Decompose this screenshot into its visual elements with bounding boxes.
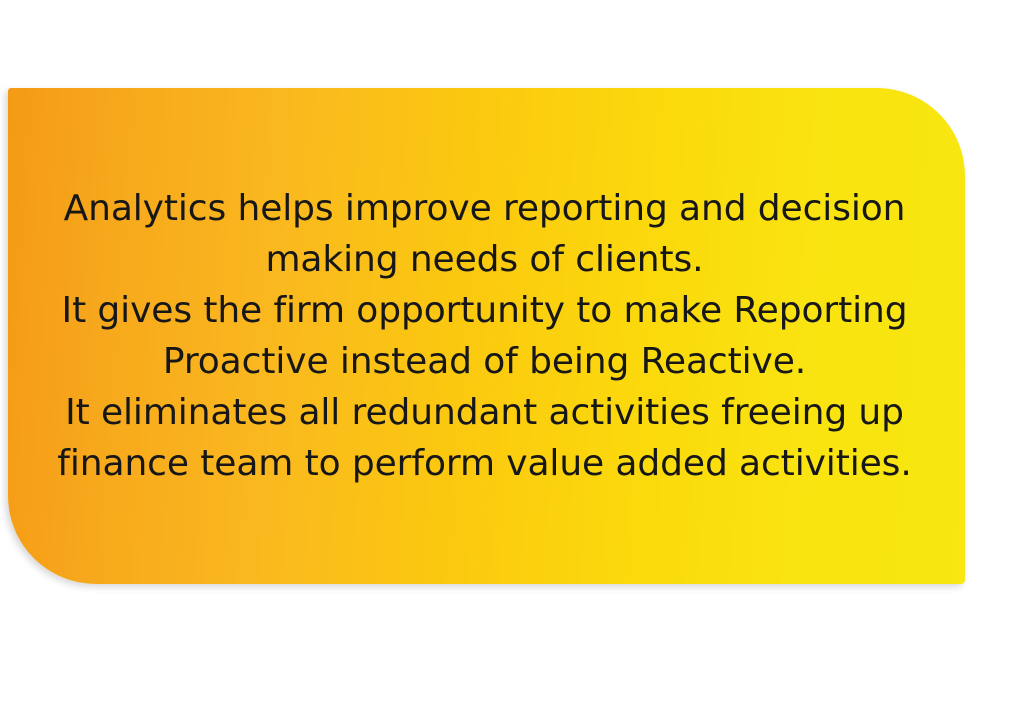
callout-line-5: It eliminates all redundant activities f…: [32, 387, 937, 438]
analytics-benefits-callout-card: Analytics helps improve reporting and de…: [8, 88, 965, 584]
callout-line-6: finance team to perform value added acti…: [32, 438, 937, 489]
callout-line-4: Proactive instead of being Reactive.: [32, 336, 937, 387]
callout-line-1: Analytics helps improve reporting and de…: [32, 183, 937, 234]
callout-line-3: It gives the firm opportunity to make Re…: [32, 285, 937, 336]
callout-text-block: Analytics helps improve reporting and de…: [8, 183, 965, 489]
slide-canvas: Analytics helps improve reporting and de…: [0, 0, 1024, 720]
callout-line-2: making needs of clients.: [32, 234, 937, 285]
